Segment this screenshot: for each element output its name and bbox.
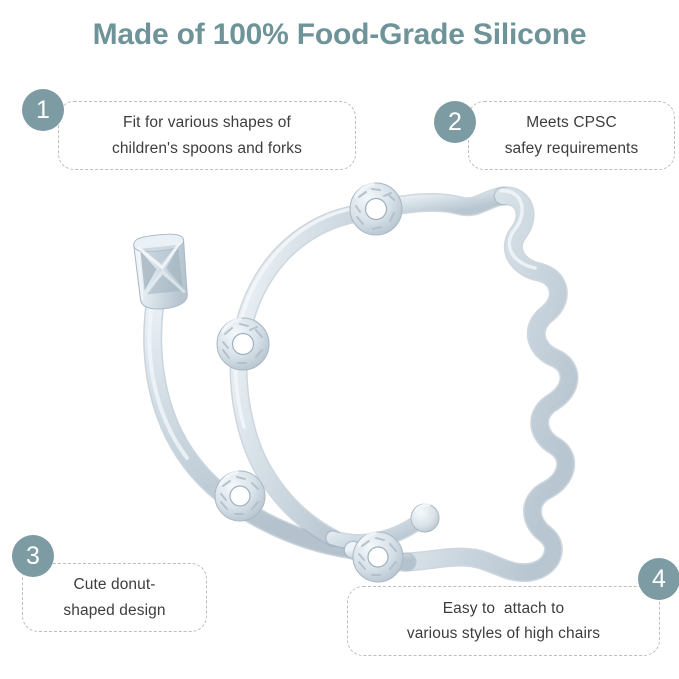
- callout-1-number-badge: 1: [22, 89, 64, 131]
- ball-tip: [411, 504, 439, 532]
- callout-box-3: Cute donut- shaped design: [22, 563, 207, 632]
- callout-3-line-2: shaped design: [63, 600, 165, 621]
- donut-bead-lower-left: [215, 471, 265, 521]
- product-feature-infographic: Made of 100% Food-Grade Silicone: [0, 0, 679, 679]
- strap-cord: [149, 191, 569, 573]
- callout-2-number-badge: 2: [434, 101, 476, 143]
- product-image: [95, 180, 595, 585]
- callout-1-line-1: Fit for various shapes of: [123, 112, 291, 133]
- x-holder-cup: [133, 232, 190, 311]
- callout-4-text: Easy to attach to various styles of high…: [348, 587, 659, 655]
- callout-4-number-badge: 4: [638, 558, 679, 600]
- callout-2-text: Meets CPSC safey requirements: [469, 102, 674, 169]
- callout-box-1: Fit for various shapes of children's spo…: [58, 101, 356, 170]
- page-title: Made of 100% Food-Grade Silicone: [0, 18, 679, 52]
- callout-2-line-1: Meets CPSC: [526, 112, 617, 133]
- callout-1-line-2: children's spoons and forks: [112, 138, 302, 159]
- callout-2-line-2: safey requirements: [505, 138, 639, 159]
- callout-3-number-badge: 3: [12, 535, 54, 577]
- silicone-strap-illustration: [95, 180, 595, 585]
- callout-box-4: Easy to attach to various styles of high…: [347, 586, 660, 656]
- donut-bead-bottom: [353, 532, 403, 582]
- donut-bead-upper-left: [217, 318, 269, 370]
- donut-bead-top: [350, 183, 402, 235]
- callout-3-text: Cute donut- shaped design: [23, 564, 206, 631]
- callout-1-text: Fit for various shapes of children's spo…: [59, 102, 355, 169]
- callout-4-line-2: various styles of high chairs: [407, 623, 600, 644]
- callout-box-2: Meets CPSC safey requirements: [468, 101, 675, 170]
- callout-4-line-1: Easy to attach to: [443, 598, 565, 619]
- callout-3-line-1: Cute donut-: [73, 574, 155, 595]
